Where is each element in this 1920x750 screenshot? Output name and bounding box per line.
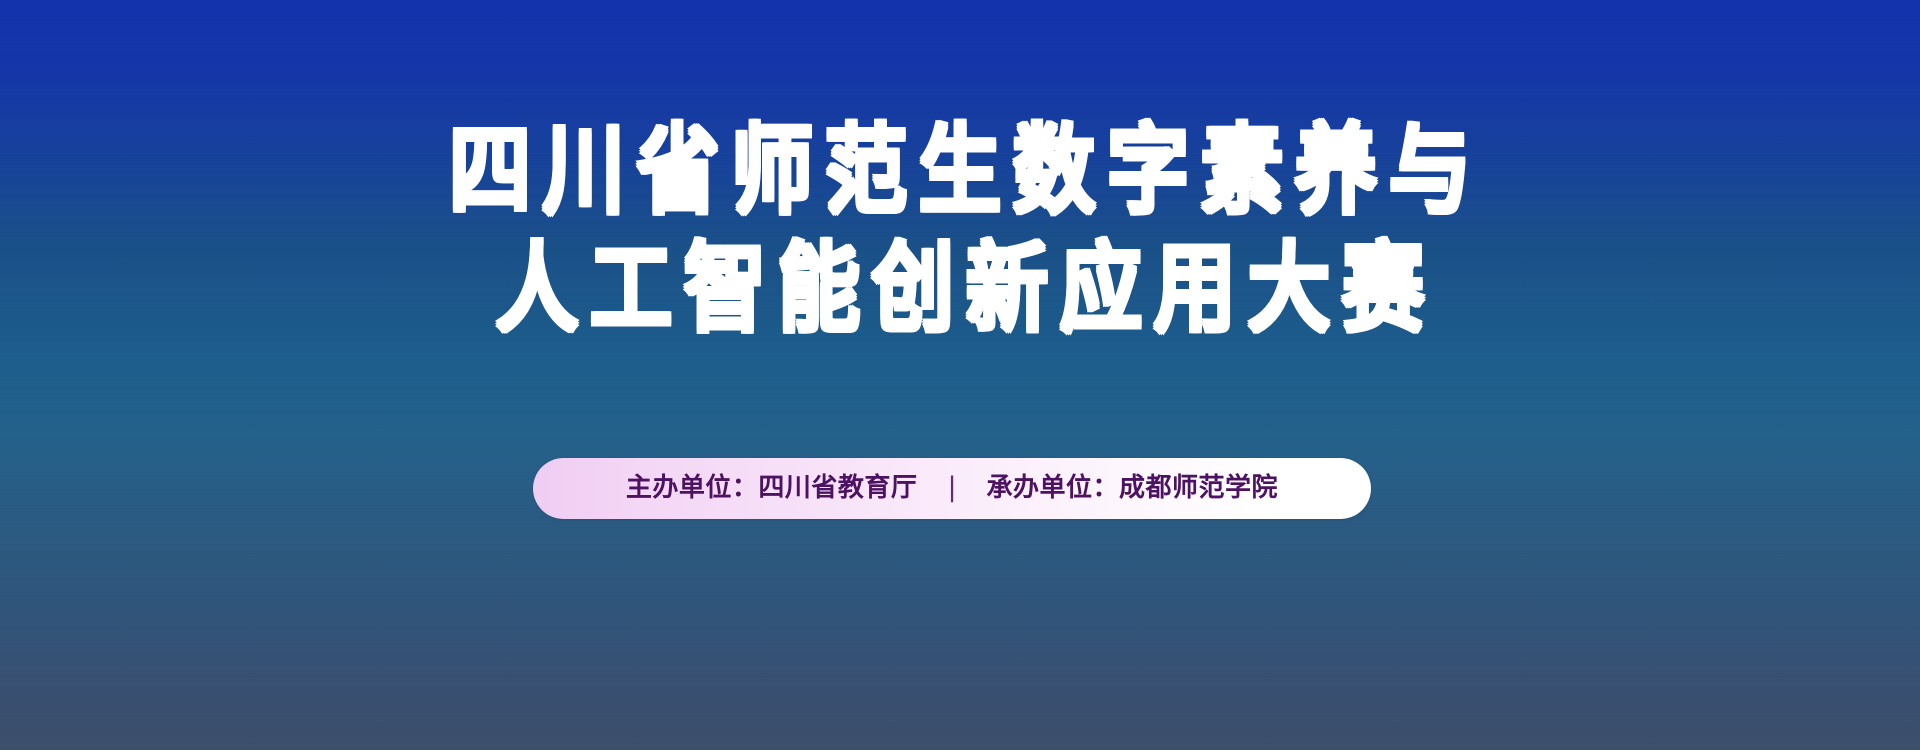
banner-title-line-1: 四川省师范生数字素养与 [0, 112, 1920, 232]
banner-title-line-2: 人工智能创新应用大赛 [0, 230, 1920, 350]
organizer-pill-content: 主办单位：四川省教育厅 | 承办单位：成都师范学院 [626, 473, 1278, 503]
organizer-unit-label: 承办单位：成都师范学院 [987, 473, 1279, 503]
host-unit-label: 主办单位：四川省教育厅 [626, 473, 918, 503]
competition-banner: 四川省师范生数字素养与 人工智能创新应用大赛 主办单位：四川省教育厅 | 承办单… [0, 0, 1920, 750]
banner-title: 四川省师范生数字素养与 人工智能创新应用大赛 [0, 112, 1920, 332]
organizer-pill: 主办单位：四川省教育厅 | 承办单位：成都师范学院 [533, 458, 1371, 519]
pill-separator: | [947, 473, 956, 503]
